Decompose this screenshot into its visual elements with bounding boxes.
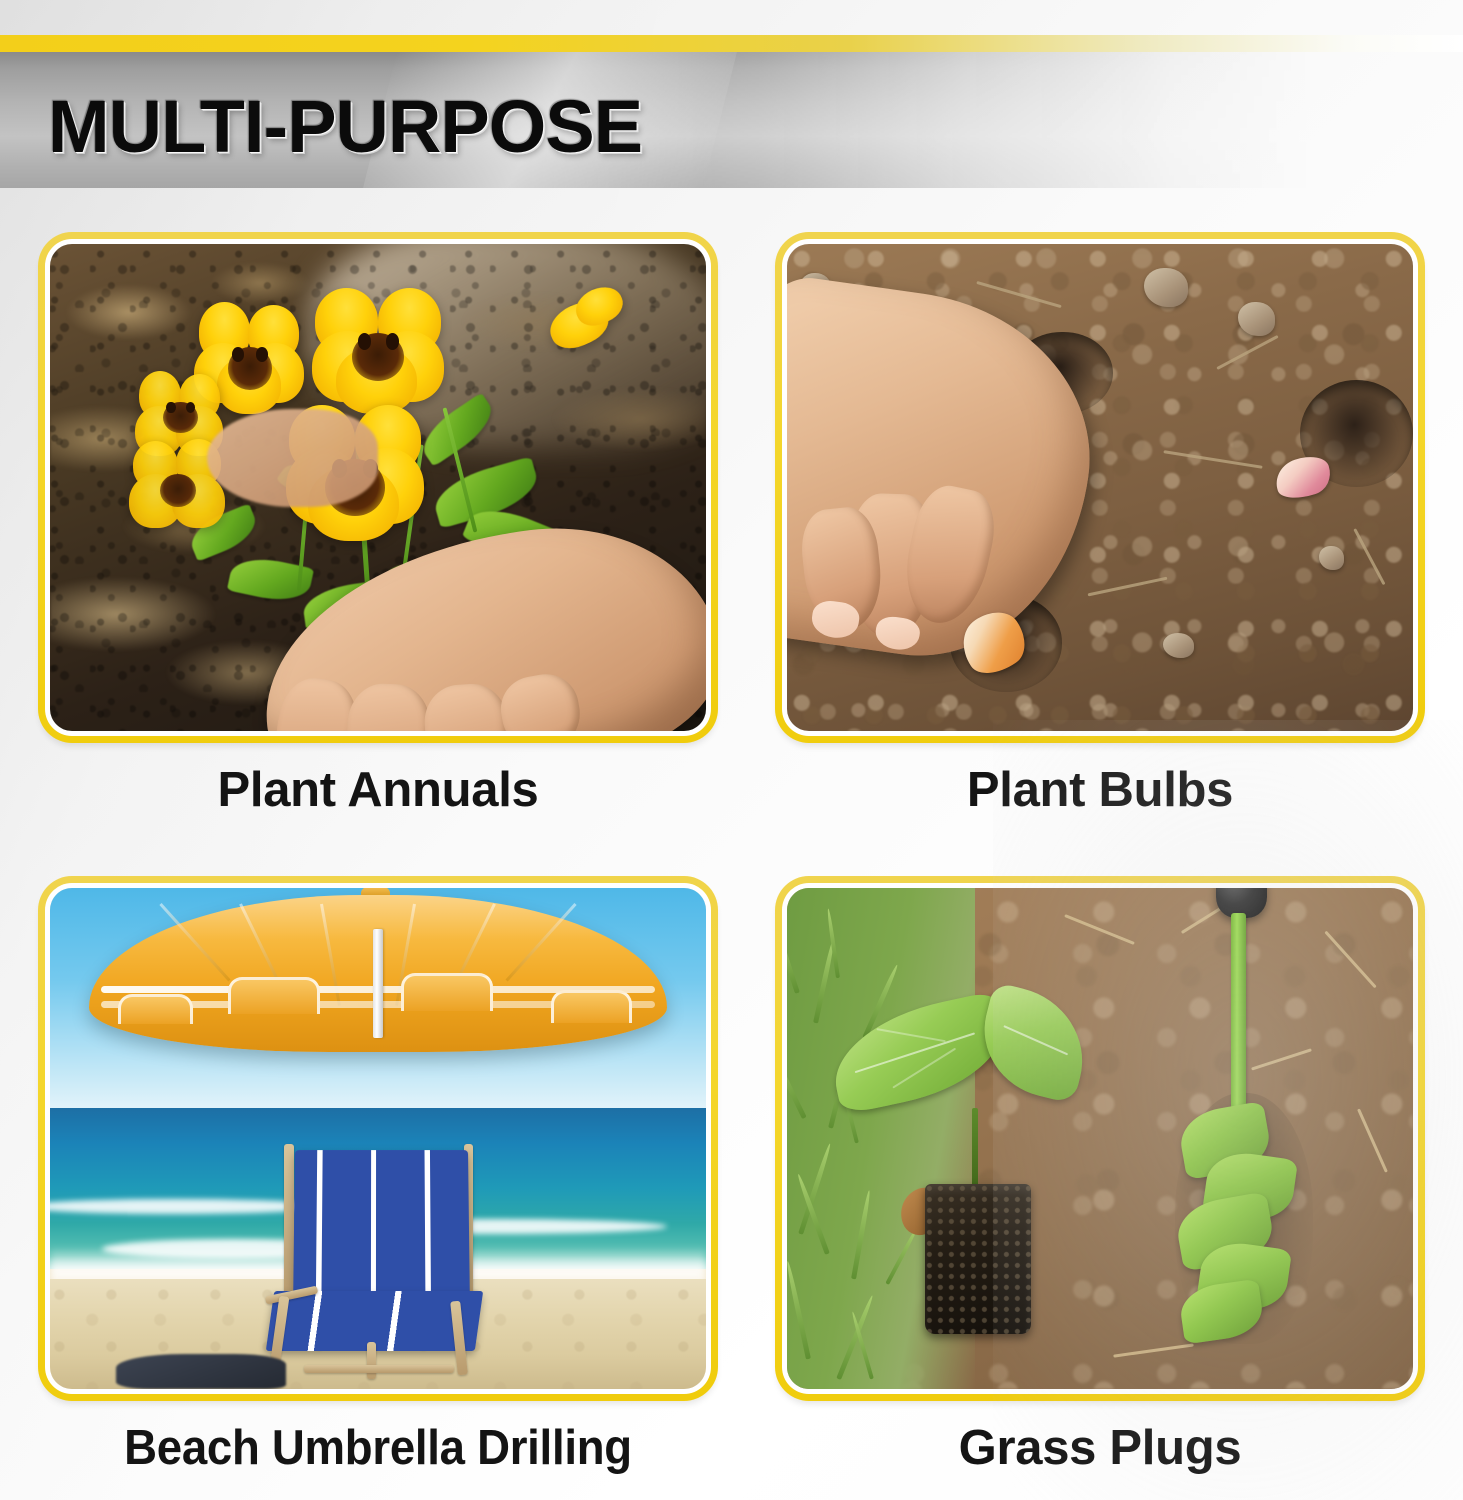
photo-inner-border xyxy=(45,239,711,736)
chair-backrest xyxy=(293,1150,470,1311)
feature-grid: Plant Annuals xyxy=(38,232,1425,1482)
header-yellow-stripe xyxy=(0,35,1463,52)
hand-back xyxy=(207,409,378,506)
beach-umbrella xyxy=(89,888,666,1058)
card-caption: Beach Umbrella Drilling xyxy=(62,1423,694,1474)
feature-card-plant-bulbs: Plant Bulbs xyxy=(775,232,1425,816)
photo-inner-border xyxy=(782,883,1418,1394)
seedling-pot xyxy=(925,1184,1031,1334)
photo-frame xyxy=(775,876,1425,1401)
photo-frame xyxy=(38,232,718,743)
card-caption: Plant Annuals xyxy=(38,765,718,816)
page-title: MULTI-PURPOSE xyxy=(48,90,642,164)
photo-beach-umbrella xyxy=(50,888,706,1389)
photo-frame xyxy=(775,232,1425,743)
photo-inner-border xyxy=(782,239,1418,736)
feature-card-beach-umbrella-drilling: Beach Umbrella Drilling xyxy=(38,876,718,1482)
photo-inner-border xyxy=(45,883,711,1394)
card-caption: Grass Plugs xyxy=(775,1423,1425,1474)
beach-chair xyxy=(260,1149,503,1379)
header-banner: MULTI-PURPOSE xyxy=(0,35,1463,188)
photo-grass-plugs xyxy=(787,888,1413,1389)
umbrella-pole xyxy=(373,929,382,1038)
photo-plant-annuals xyxy=(50,244,706,731)
photo-frame xyxy=(38,876,718,1401)
card-caption: Plant Bulbs xyxy=(775,765,1425,816)
auger-shaft xyxy=(1231,913,1246,1133)
photo-plant-bulbs xyxy=(787,244,1413,731)
beach-towel xyxy=(116,1354,287,1389)
feature-card-plant-annuals: Plant Annuals xyxy=(38,232,718,816)
feature-card-grass-plugs: Grass Plugs xyxy=(775,876,1425,1482)
pansy-flower xyxy=(312,288,443,415)
infographic-page: MULTI-PURPOSE xyxy=(0,0,1463,1500)
